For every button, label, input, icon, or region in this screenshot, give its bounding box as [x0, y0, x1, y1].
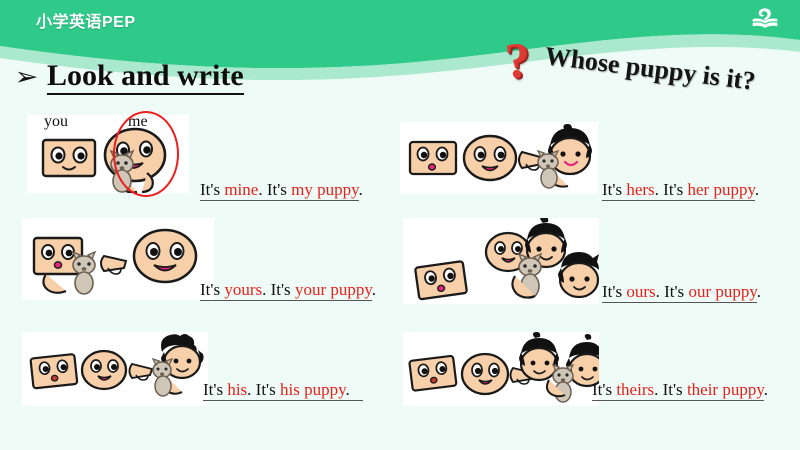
- caption-part: . It's: [258, 180, 291, 201]
- puppy: [153, 359, 172, 396]
- caption-part: . It's: [262, 280, 295, 301]
- picture-panel-theirs: [403, 332, 599, 406]
- round-face: [134, 230, 196, 282]
- caption-part: It's: [602, 180, 626, 201]
- caption-mine: It's mine. It's my puppy.: [200, 180, 363, 200]
- whose-question-block: ? Whose puppy is it?: [505, 33, 800, 95]
- caption-part: . It's: [655, 180, 688, 201]
- caption-part: .: [755, 180, 759, 199]
- question-mark-icon: ?: [503, 34, 531, 86]
- look-and-write-label: Look and write: [47, 60, 244, 95]
- caption-part: It's: [203, 380, 227, 401]
- caption-part: It's: [602, 282, 626, 303]
- caption-part: . It's: [247, 380, 280, 401]
- caption-yours: It's yours. It's your puppy.: [200, 280, 376, 300]
- figure-group-hers: [400, 122, 598, 194]
- open-book-logo-icon: [748, 5, 782, 33]
- two-kids-with-puppy: [519, 332, 599, 402]
- square-face-tilted: [409, 356, 456, 391]
- caption-part: .: [372, 280, 376, 299]
- square-face-tilted: [30, 354, 77, 388]
- round-face: [462, 354, 508, 394]
- caption-ours: It's ours. It's our puppy.: [602, 282, 761, 302]
- figure-group-yours: [22, 218, 214, 300]
- picture-panel-ours: [403, 218, 599, 304]
- caption-part: It's: [200, 180, 224, 201]
- whose-question-label: Whose puppy is it?: [543, 41, 757, 97]
- caption-part: your puppy: [295, 280, 372, 301]
- picture-panel-hers: [400, 122, 598, 194]
- caption-part: her puppy: [687, 180, 754, 201]
- caption-part: It's: [200, 280, 224, 301]
- caption-part: .: [764, 380, 768, 399]
- square-face: [410, 142, 456, 174]
- boy-holding-puppy: [153, 334, 204, 396]
- caption-part: theirs: [616, 380, 654, 401]
- caption-his: It's his. It's his puppy.: [203, 380, 363, 400]
- caption-part: yours: [224, 280, 262, 301]
- figure-group-theirs: [403, 332, 599, 406]
- slide-root: 小学英语PEP ➢ Look and write ? Whose puppy i…: [0, 0, 800, 450]
- caption-part: It's: [592, 380, 616, 401]
- header-title: 小学英语PEP: [36, 8, 136, 32]
- figure-group-ours: [403, 218, 599, 304]
- square-face: [43, 140, 95, 176]
- figure-group-his: [22, 332, 208, 406]
- caption-part: his puppy: [280, 380, 346, 401]
- caption-part: his: [227, 380, 247, 401]
- caption-part: our puppy: [688, 282, 756, 303]
- pointing-hand: [101, 256, 126, 274]
- caption-part: .: [359, 180, 363, 199]
- square-face-tilted: [415, 261, 467, 299]
- round-face: [464, 136, 516, 180]
- caption-part: my puppy: [291, 180, 358, 201]
- caption-part: their puppy: [687, 380, 764, 401]
- picture-panel-his: [22, 332, 208, 406]
- pointing-hand: [130, 364, 153, 380]
- look-and-write-heading: ➢ Look and write: [16, 60, 244, 95]
- red-highlight-ellipse: [113, 111, 179, 197]
- caption-part: . It's: [656, 282, 689, 303]
- caption-hers: It's hers. It's her puppy.: [602, 180, 759, 200]
- caption-part: mine: [224, 180, 258, 201]
- girl-holding-puppy: [538, 124, 592, 188]
- caption-part: hers: [626, 180, 654, 201]
- caption-part: . It's: [654, 380, 687, 401]
- caption-part: .: [757, 282, 761, 301]
- picture-panel-yours: [22, 218, 214, 300]
- caption-part: ours: [626, 282, 655, 303]
- boy-with-bangs: [558, 252, 599, 297]
- caption-trailing-rule: [354, 380, 363, 401]
- square-face-holding-puppy: [34, 238, 95, 294]
- arrow-bullet-icon: ➢: [14, 65, 38, 90]
- label-you: you: [44, 113, 68, 131]
- caption-part: .: [346, 380, 355, 401]
- round-face: [82, 351, 126, 389]
- caption-theirs: It's theirs. It's their puppy.: [592, 380, 768, 400]
